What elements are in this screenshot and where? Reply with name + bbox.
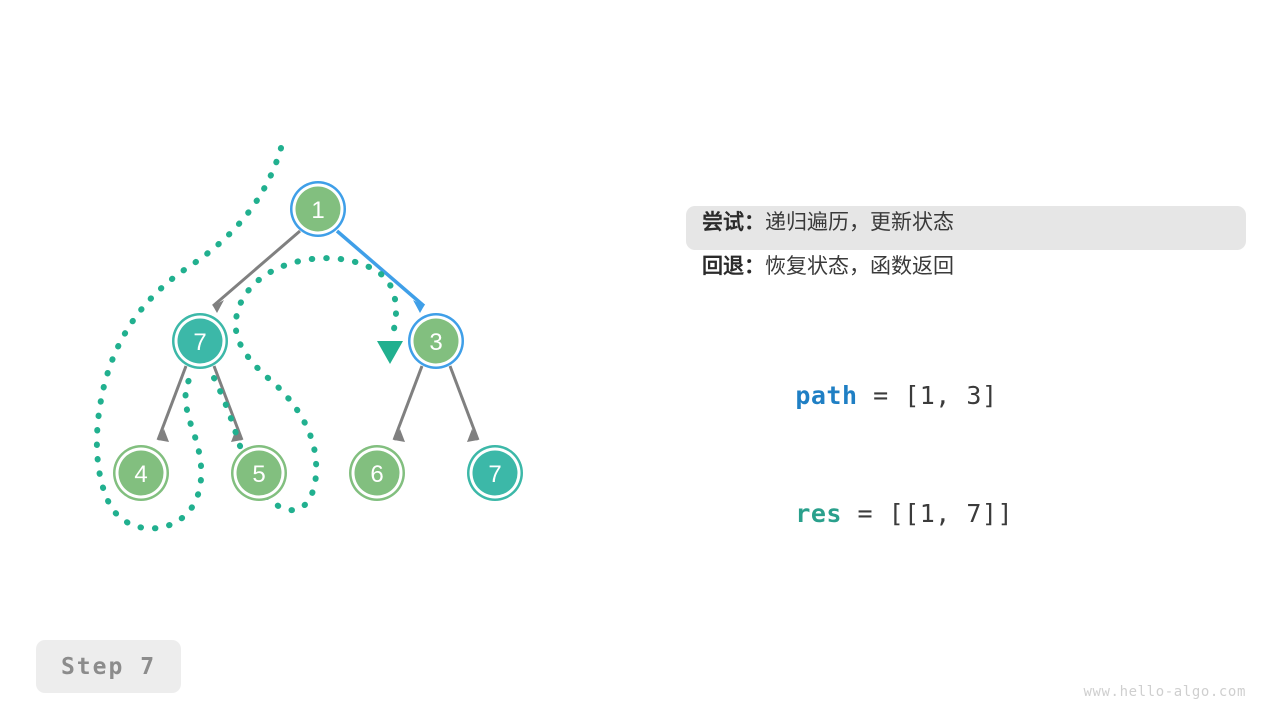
- tree-node-4[interactable]: 4: [113, 445, 169, 501]
- tree-node-7-left-label: 7: [193, 329, 206, 356]
- tree-node-7-left[interactable]: 7: [172, 313, 228, 369]
- step-badge-label: Step 7: [61, 654, 156, 680]
- edge-3-to-7-right: [450, 366, 478, 442]
- annotation-row-backtrack-key: 回退：: [702, 250, 765, 280]
- edge-1-to-7-left: [213, 231, 300, 313]
- tree-node-4-label: 4: [134, 461, 147, 488]
- code-assign-path: =: [858, 381, 905, 410]
- tree-node-1-label: 1: [311, 197, 324, 224]
- code-line-path: path = [1, 3]: [702, 306, 1230, 366]
- tree-node-5[interactable]: 5: [231, 445, 287, 501]
- binary-tree-diagram: 1 7 3 4 5: [0, 0, 640, 720]
- tree-node-3[interactable]: 3: [408, 313, 464, 369]
- edge-7-left-to-4: [158, 366, 186, 442]
- code-line-res: res = [[1, 7]]: [702, 424, 1230, 484]
- code-value-path: [1, 3]: [904, 381, 997, 410]
- tree-node-6-label: 6: [370, 461, 383, 488]
- code-var-res: res: [795, 499, 842, 528]
- trace-arrowhead-icon: [377, 341, 403, 364]
- tree-node-7-right[interactable]: 7: [467, 445, 523, 501]
- tree-nodes: 1 7 3 4 5: [113, 181, 523, 501]
- tree-node-5-label: 5: [252, 461, 265, 488]
- code-var-path: path: [795, 381, 857, 410]
- annotation-row-backtrack-value: 恢复状态，函数返回: [765, 250, 954, 280]
- annotation-row-try-key: 尝试：: [702, 206, 765, 236]
- annotation-row-try-value: 递归遍历，更新状态: [765, 206, 954, 236]
- state-code-block: path = [1, 3] res = [[1, 7]]: [686, 306, 1246, 484]
- watermark: www.hello-algo.com: [1083, 684, 1246, 700]
- edge-3-to-6: [394, 366, 422, 442]
- tree-node-6[interactable]: 6: [349, 445, 405, 501]
- watermark-label: www.hello-algo.com: [1083, 684, 1246, 700]
- annotation-row-try: 尝试： 递归遍历，更新状态: [686, 206, 1246, 250]
- annotation-panel: 尝试： 递归遍历，更新状态 回退： 恢复状态，函数返回 path = [1, 3…: [686, 206, 1246, 484]
- annotation-row-backtrack: 回退： 恢复状态，函数返回: [686, 250, 1246, 294]
- step-badge: Step 7: [36, 640, 181, 693]
- tree-node-3-label: 3: [429, 329, 442, 356]
- code-assign-res: =: [842, 499, 889, 528]
- tree-node-7-right-label: 7: [488, 461, 501, 488]
- code-value-res: [[1, 7]]: [889, 499, 1013, 528]
- tree-node-1[interactable]: 1: [290, 181, 346, 237]
